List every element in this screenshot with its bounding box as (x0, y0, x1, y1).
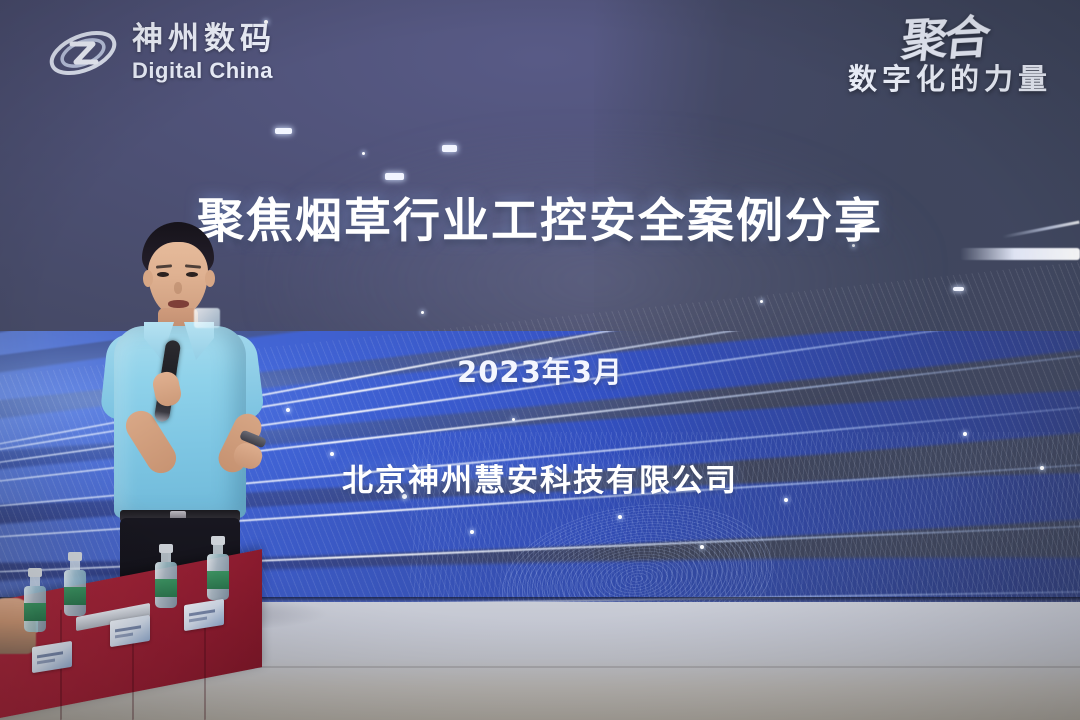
bottle-label (24, 603, 46, 621)
bottle-label (207, 571, 229, 589)
presenter-nose (174, 282, 182, 294)
light-particle (385, 173, 404, 180)
water-bottle (207, 536, 229, 600)
presenter-eye (186, 272, 198, 277)
light-particle (760, 300, 763, 303)
juhe-logo: 聚合 数字化的力量 (848, 18, 1052, 98)
bottle-body (207, 554, 229, 600)
audience-table (0, 570, 270, 720)
juhe-calligraphy: 聚合 (899, 16, 988, 64)
chest-logo-icon (194, 308, 220, 328)
name-card-text-line (115, 633, 133, 639)
water-bottle (155, 544, 177, 608)
bottle-body (155, 562, 177, 608)
name-card-text-line (37, 659, 55, 665)
presenter-ear (205, 270, 215, 287)
bottle-label (64, 587, 86, 605)
name-card-text-line (189, 617, 207, 623)
digital-china-wordmark: 神州数码 Digital China (132, 24, 276, 82)
light-particle (470, 530, 474, 534)
conference-photo: 神州数码 Digital China 聚合 数字化的力量 聚焦烟草行业工控安全案… (0, 0, 1080, 720)
bottle-neck (70, 561, 80, 570)
bottle-neck (30, 577, 40, 586)
brand-name-cn: 神州数码 (132, 24, 276, 55)
presenter-ear (143, 270, 153, 287)
bottle-cap (28, 568, 42, 577)
bottle-cap (211, 536, 225, 545)
light-particle (953, 287, 964, 291)
light-particle (963, 432, 967, 436)
light-particle (286, 408, 290, 412)
bottle-cap (68, 552, 82, 561)
name-card-text-line (189, 609, 215, 616)
light-particle (362, 152, 365, 155)
bottle-cap (159, 544, 173, 553)
bottle-body (24, 586, 46, 632)
digital-china-logo: 神州数码 Digital China (46, 22, 276, 84)
bottle-neck (213, 545, 223, 554)
light-particle (700, 545, 704, 549)
light-particle (512, 418, 515, 421)
bottle-neck (161, 553, 171, 562)
bottle-label (155, 579, 177, 597)
digital-china-swirl-icon (46, 22, 120, 84)
bottle-body (64, 570, 86, 616)
water-bottle (64, 552, 86, 616)
brand-name-en: Digital China (132, 60, 276, 82)
light-particle (275, 128, 292, 134)
light-particle (442, 145, 457, 152)
name-card-text-line (37, 651, 63, 658)
light-particle (618, 515, 622, 519)
light-particle (421, 311, 424, 314)
name-card-text-line (115, 625, 141, 632)
presenter-eye (157, 272, 169, 277)
presenter-mouth (168, 300, 189, 308)
water-bottle (24, 568, 46, 632)
